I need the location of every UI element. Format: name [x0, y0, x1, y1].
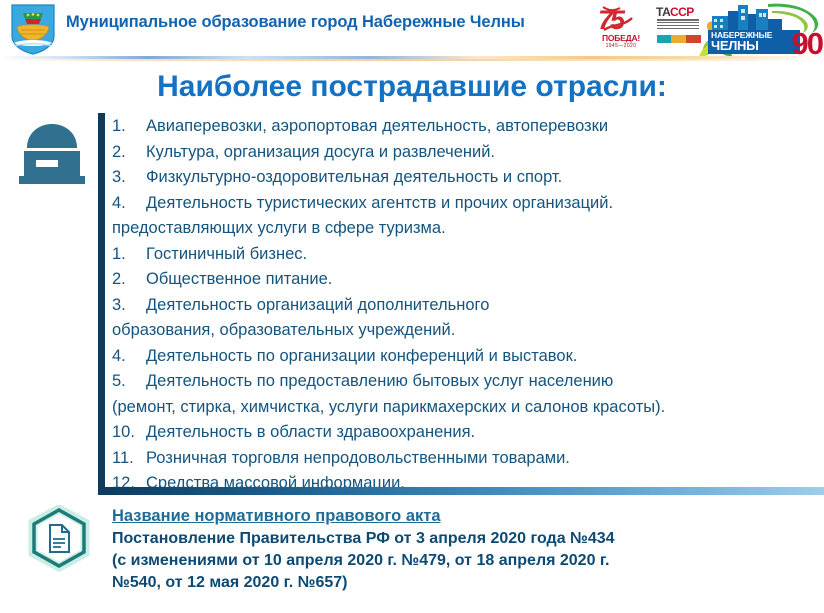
- list-item: 2. Общественное питание.: [112, 267, 818, 293]
- normative-act-block: Название нормативного правового акта Пос…: [112, 505, 818, 594]
- list-item-label: Деятельность организаций дополнительного: [146, 293, 818, 319]
- list-item-label: Деятельность в области здравоохранения.: [146, 420, 818, 446]
- list-item-label: Общественное питание.: [146, 267, 818, 293]
- tassr-text-lines: [657, 19, 699, 33]
- industries-list: 1. Авиаперевозки, аэропортовая деятельно…: [112, 114, 818, 497]
- victory-label: ПОБЕДА! 1945—2020: [590, 33, 652, 49]
- list-item: 2. Культура, организация досуга и развле…: [112, 140, 818, 166]
- tassr-abbr-left: ТА: [656, 5, 670, 19]
- list-item-label: Деятельность туристических агентств и пр…: [146, 191, 818, 217]
- normative-act-line: №540, от 12 мая 2020 г. №657): [112, 572, 818, 594]
- tassr-abbr-right: ССР: [670, 5, 694, 19]
- list-item-number: 4.: [112, 191, 146, 217]
- normative-act-heading: Название нормативного правового акта: [112, 505, 818, 528]
- victory-75-logo: 75 ПОБЕДА! 1945—2020: [590, 2, 652, 54]
- page-header: Муниципальное образование город Набережн…: [0, 0, 824, 56]
- chelny-name-block: НАБЕРЕЖНЫЕ ЧЕЛНЫ: [708, 30, 800, 55]
- list-item-label: Гостиничный бизнес.: [146, 242, 818, 268]
- list-item-number: 3.: [112, 293, 146, 319]
- list-item-label: Авиаперевозки, аэропортовая деятельность…: [146, 114, 818, 140]
- victory-label-text: ПОБЕДА!: [602, 33, 640, 43]
- list-item-label: Розничная торговля непродовольственными …: [146, 446, 818, 472]
- list-item: 5. Деятельность по предоставлению бытовы…: [112, 369, 818, 395]
- tassr-abbr: ТАССР: [656, 5, 694, 19]
- list-item: 4. Деятельность туристических агентств и…: [112, 191, 818, 217]
- list-item-label: Культура, организация досуга и развлечен…: [146, 140, 818, 166]
- page-title: Наиболее пострадавшие отрасли:: [0, 70, 824, 104]
- document-hexagon-icon: [26, 505, 92, 575]
- list-item: 10. Деятельность в области здравоохранен…: [112, 420, 818, 446]
- tassr-color-bar: [657, 35, 701, 43]
- list-item-label: Деятельность по предоставлению бытовых у…: [146, 369, 818, 395]
- list-item-number: 4.: [112, 344, 146, 370]
- list-item-label: Физкультурно-оздоровительная деятельност…: [146, 165, 818, 191]
- list-item: 11. Розничная торговля непродовольственн…: [112, 446, 818, 472]
- list-item-label: Деятельность по организации конференций …: [146, 344, 818, 370]
- list-item: 1. Авиаперевозки, аэропортовая деятельно…: [112, 114, 818, 140]
- coat-of-arms-icon: [9, 3, 57, 55]
- normative-act-line: (с изменениями от 10 апреля 2020 г. №479…: [112, 550, 818, 572]
- list-item-number: 3.: [112, 165, 146, 191]
- list-item-number: 2.: [112, 140, 146, 166]
- list-item: 4. Деятельность по организации конференц…: [112, 344, 818, 370]
- chelny-90-logo: НАБЕРЕЖНЫЕ ЧЕЛНЫ 90: [700, 0, 822, 56]
- header-title: Муниципальное образование город Набережн…: [66, 13, 525, 32]
- header-logos: 75 ПОБЕДА! 1945—2020 ТАССР: [590, 0, 822, 56]
- list-item-number: 10.: [112, 420, 146, 446]
- list-item-continuation: предоставляющих услуги в сфере туризма.: [112, 216, 818, 242]
- section-divider: [98, 487, 824, 495]
- list-item: 3. Физкультурно-оздоровительная деятельн…: [112, 165, 818, 191]
- victory-years: 1945—2020: [590, 43, 652, 49]
- list-item-number: 1.: [112, 114, 146, 140]
- chelny-anniversary-number: 90: [792, 31, 822, 56]
- list-item-continuation: образования, образовательных учреждений.: [112, 318, 818, 344]
- list-item-number: 1.: [112, 242, 146, 268]
- list-accent-bar: [98, 113, 105, 488]
- list-item-continuation: (ремонт, стирка, химчистка, услуги парик…: [112, 395, 818, 421]
- bank-dome-icon: [14, 118, 90, 190]
- list-item-number: 2.: [112, 267, 146, 293]
- list-item-number: 5.: [112, 369, 146, 395]
- header-divider-secondary: [0, 59, 824, 61]
- list-item-number: 11.: [112, 446, 146, 472]
- list-item: 1. Гостиничный бизнес.: [112, 242, 818, 268]
- list-item: 3. Деятельность организаций дополнительн…: [112, 293, 818, 319]
- chelny-line2: ЧЕЛНЫ: [711, 39, 798, 52]
- normative-act-line: Постановление Правительства РФ от 3 апре…: [112, 528, 818, 550]
